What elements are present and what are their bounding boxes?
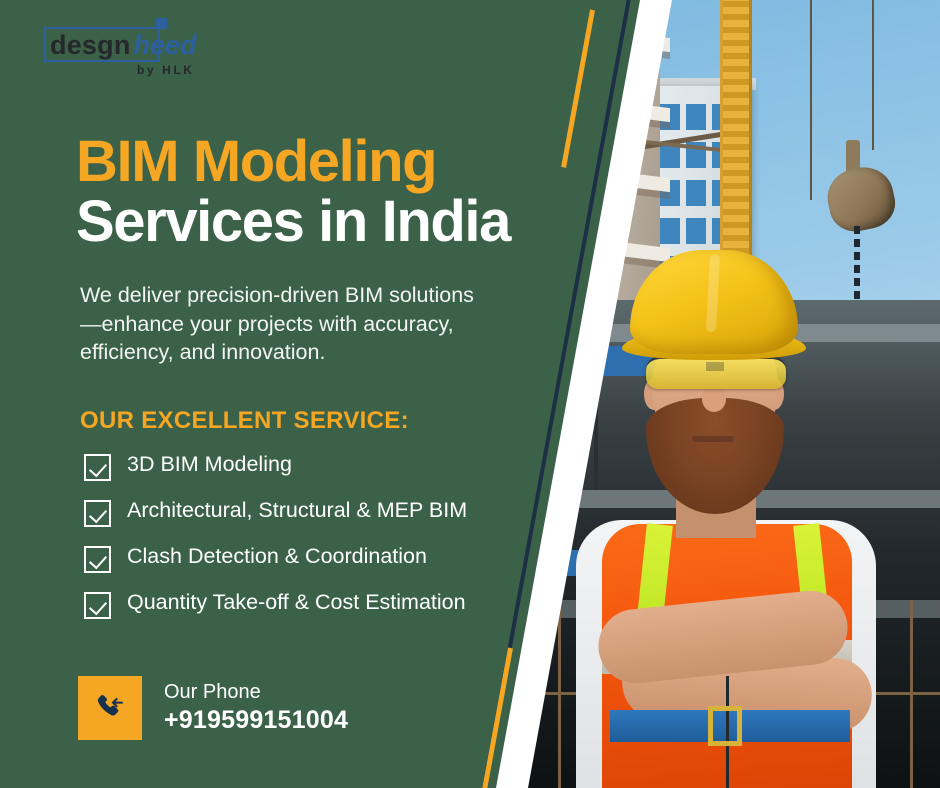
services-heading: OUR EXCELLENT SERVICE: [80,407,409,435]
checkbox-checked-icon [84,454,111,481]
safety-glasses [646,356,786,389]
logo-text-design: desgn [50,30,131,61]
headline-line-2: Services in India [76,192,510,252]
list-item: 3D BIM Modeling [84,452,534,481]
checkbox-checked-icon [84,500,111,527]
service-label: 3D BIM Modeling [127,452,292,477]
list-item: Quantity Take-off & Cost Estimation [84,590,534,619]
logo-square-dot [156,18,167,29]
content-column: desgn heed by HLK BIM Modeling Services … [0,0,600,788]
harness-buckle [708,706,742,746]
worker-mouth [692,436,734,442]
checkbox-checked-icon [84,592,111,619]
contact-phone-text: Our Phone +919599151004 [164,681,348,735]
service-label: Clash Detection & Coordination [127,544,427,569]
phone-icon-badge[interactable] [78,676,142,740]
promotional-banner: desgn heed by HLK BIM Modeling Services … [0,0,940,788]
list-item: Architectural, Structural & MEP BIM [84,498,534,527]
services-list: 3D BIM Modeling Architectural, Structura… [84,452,534,636]
service-label: Quantity Take-off & Cost Estimation [127,590,466,615]
subtitle-text: We deliver precision-driven BIM solution… [80,281,480,367]
service-label: Architectural, Structural & MEP BIM [127,498,467,523]
list-item: Clash Detection & Coordination [84,544,534,573]
logo-text-heed: heed [134,30,197,61]
safety-glasses-bridge [706,362,724,371]
brand-logo[interactable]: desgn heed by HLK [50,30,197,77]
phone-label: Our Phone [164,681,348,704]
phone-incoming-icon [93,691,127,725]
worker-beard [646,398,784,514]
logo-tagline: by HLK [50,63,197,77]
phone-number: +919599151004 [164,706,348,735]
worker-nose [702,386,726,412]
contact-phone-block[interactable]: Our Phone +919599151004 [78,676,348,740]
checkbox-checked-icon [84,546,111,573]
logo-wordmark: desgn heed [50,30,197,61]
headline-line-1: BIM Modeling [76,132,510,192]
page-title: BIM Modeling Services in India [76,132,510,253]
